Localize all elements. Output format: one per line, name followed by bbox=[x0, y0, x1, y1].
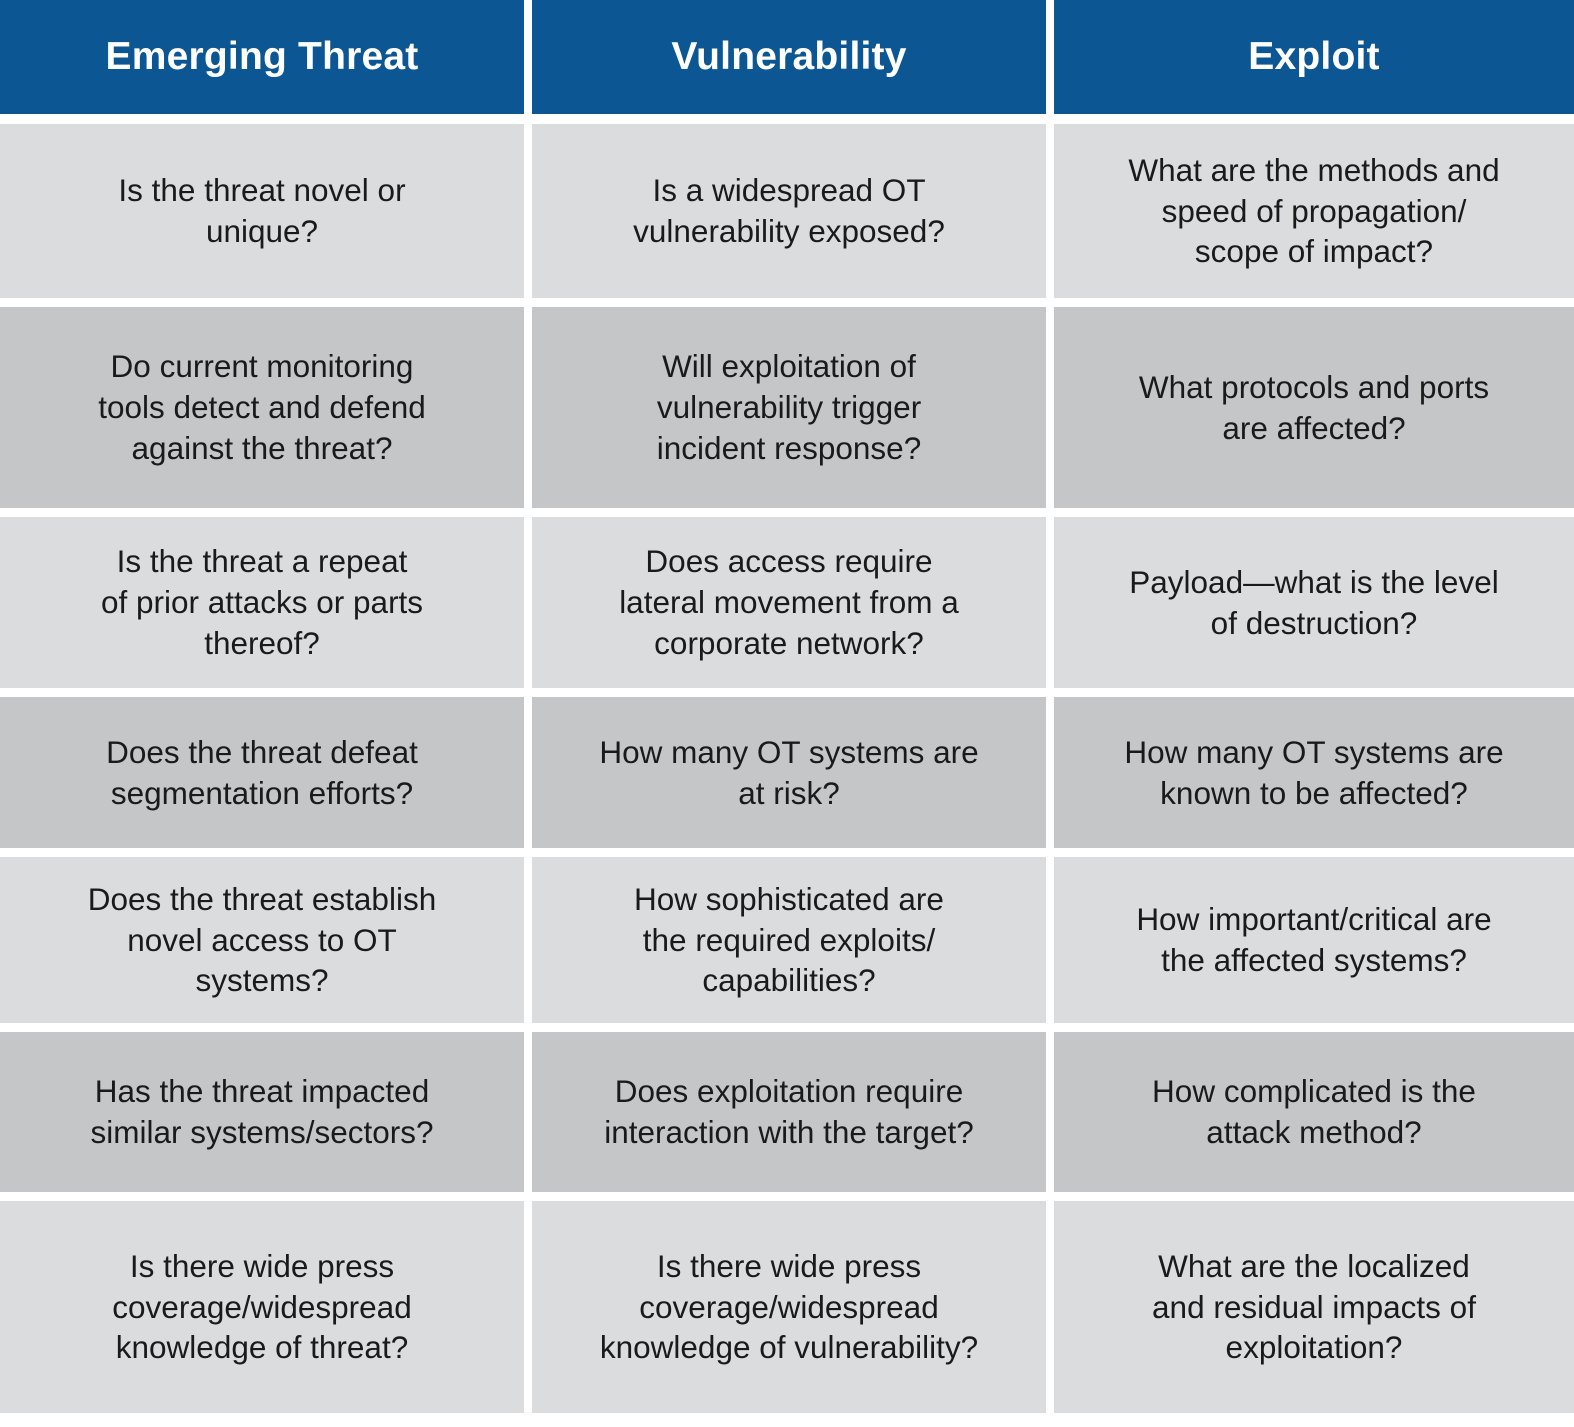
cell-text: What protocols and ports are affected? bbox=[1072, 367, 1556, 449]
table-row: Is the threat novel or unique? Is a wide… bbox=[0, 124, 1574, 298]
cell-exploit-1: What are the methods and speed of propag… bbox=[1054, 124, 1574, 298]
row-divider bbox=[0, 848, 1574, 857]
cell-text: How complicated is the attack method? bbox=[1072, 1071, 1556, 1153]
cell-vulnerability-1: Is a widespread OT vulnerability exposed… bbox=[532, 124, 1046, 298]
cell-gutter bbox=[1046, 124, 1054, 298]
cell-text: Is the threat novel or unique? bbox=[18, 170, 506, 252]
row-divider bbox=[0, 1023, 1574, 1032]
cell-text: Is there wide press coverage/widespread … bbox=[550, 1246, 1028, 1369]
cell-text: Will exploitation of vulnerability trigg… bbox=[550, 346, 1028, 469]
cell-text: Does exploitation require interaction wi… bbox=[550, 1071, 1028, 1153]
cell-threat-5: Does the threat establish novel access t… bbox=[0, 857, 524, 1023]
column-header-vulnerability: Vulnerability bbox=[532, 0, 1046, 114]
cell-text: Is the threat a repeat of prior attacks … bbox=[18, 541, 506, 664]
cell-vulnerability-7: Is there wide press coverage/widespread … bbox=[532, 1201, 1046, 1413]
divider-fill bbox=[0, 298, 1574, 307]
cell-gutter bbox=[1046, 1201, 1054, 1413]
cell-gutter bbox=[524, 517, 532, 688]
table-row: Is there wide press coverage/widespread … bbox=[0, 1201, 1574, 1413]
cell-exploit-4: How many OT systems are known to be affe… bbox=[1054, 697, 1574, 848]
cell-exploit-7: What are the localized and residual impa… bbox=[1054, 1201, 1574, 1413]
row-divider bbox=[0, 1192, 1574, 1201]
cell-vulnerability-2: Will exploitation of vulnerability trigg… bbox=[532, 307, 1046, 508]
table-row: Do current monitoring tools detect and d… bbox=[0, 307, 1574, 508]
cell-gutter bbox=[1046, 857, 1054, 1023]
cell-text: How important/critical are the affected … bbox=[1072, 899, 1556, 981]
cell-exploit-6: How complicated is the attack method? bbox=[1054, 1032, 1574, 1192]
cell-threat-7: Is there wide press coverage/widespread … bbox=[0, 1201, 524, 1413]
cell-text: How many OT systems are known to be affe… bbox=[1072, 732, 1556, 814]
row-divider bbox=[0, 688, 1574, 697]
divider-fill bbox=[0, 848, 1574, 857]
cell-gutter bbox=[524, 1032, 532, 1192]
cell-gutter bbox=[524, 857, 532, 1023]
divider-fill bbox=[0, 114, 1574, 124]
cell-vulnerability-6: Does exploitation require interaction wi… bbox=[532, 1032, 1046, 1192]
cell-gutter bbox=[1046, 307, 1054, 508]
cell-vulnerability-5: How sophisticated are the required explo… bbox=[532, 857, 1046, 1023]
cell-gutter bbox=[524, 307, 532, 508]
cell-text: Is a widespread OT vulnerability exposed… bbox=[550, 170, 1028, 252]
column-header-emerging-threat: Emerging Threat bbox=[0, 0, 524, 114]
cell-text: Do current monitoring tools detect and d… bbox=[18, 346, 506, 469]
cell-exploit-2: What protocols and ports are affected? bbox=[1054, 307, 1574, 508]
column-gutter-2 bbox=[1046, 0, 1054, 114]
cell-gutter bbox=[524, 697, 532, 848]
cell-gutter bbox=[1046, 697, 1054, 848]
table-row: Has the threat impacted similar systems/… bbox=[0, 1032, 1574, 1192]
cell-vulnerability-4: How many OT systems are at risk? bbox=[532, 697, 1046, 848]
cell-threat-6: Has the threat impacted similar systems/… bbox=[0, 1032, 524, 1192]
column-gutter-1 bbox=[524, 0, 532, 114]
cell-threat-4: Does the threat defeat segmentation effo… bbox=[0, 697, 524, 848]
header-body-divider bbox=[0, 114, 1574, 124]
divider-fill bbox=[0, 1192, 1574, 1201]
threat-vulnerability-exploit-matrix: Emerging Threat Vulnerability Exploit Is… bbox=[0, 0, 1574, 1413]
cell-text: What are the methods and speed of propag… bbox=[1072, 150, 1556, 273]
cell-text: Does access require lateral movement fro… bbox=[550, 541, 1028, 664]
column-header-exploit: Exploit bbox=[1054, 0, 1574, 114]
cell-text: How many OT systems are at risk? bbox=[550, 732, 1028, 814]
cell-text: Is there wide press coverage/widespread … bbox=[18, 1246, 506, 1369]
cell-text: Payload—what is the level of destruction… bbox=[1072, 562, 1556, 644]
cell-text: What are the localized and residual impa… bbox=[1072, 1246, 1556, 1369]
row-divider bbox=[0, 298, 1574, 307]
divider-fill bbox=[0, 1023, 1574, 1032]
cell-threat-3: Is the threat a repeat of prior attacks … bbox=[0, 517, 524, 688]
row-divider bbox=[0, 508, 1574, 517]
cell-gutter bbox=[524, 1201, 532, 1413]
cell-exploit-5: How important/critical are the affected … bbox=[1054, 857, 1574, 1023]
table-row: Is the threat a repeat of prior attacks … bbox=[0, 517, 1574, 688]
cell-exploit-3: Payload—what is the level of destruction… bbox=[1054, 517, 1574, 688]
cell-vulnerability-3: Does access require lateral movement fro… bbox=[532, 517, 1046, 688]
cell-text: How sophisticated are the required explo… bbox=[550, 879, 1028, 1002]
divider-fill bbox=[0, 688, 1574, 697]
table-row: Does the threat defeat segmentation effo… bbox=[0, 697, 1574, 848]
table-row: Does the threat establish novel access t… bbox=[0, 857, 1574, 1023]
divider-fill bbox=[0, 508, 1574, 517]
cell-gutter bbox=[524, 124, 532, 298]
table-header-row: Emerging Threat Vulnerability Exploit bbox=[0, 0, 1574, 114]
cell-text: Has the threat impacted similar systems/… bbox=[18, 1071, 506, 1153]
cell-gutter bbox=[1046, 517, 1054, 688]
cell-threat-1: Is the threat novel or unique? bbox=[0, 124, 524, 298]
cell-text: Does the threat defeat segmentation effo… bbox=[18, 732, 506, 814]
cell-gutter bbox=[1046, 1032, 1054, 1192]
cell-threat-2: Do current monitoring tools detect and d… bbox=[0, 307, 524, 508]
cell-text: Does the threat establish novel access t… bbox=[18, 879, 506, 1002]
